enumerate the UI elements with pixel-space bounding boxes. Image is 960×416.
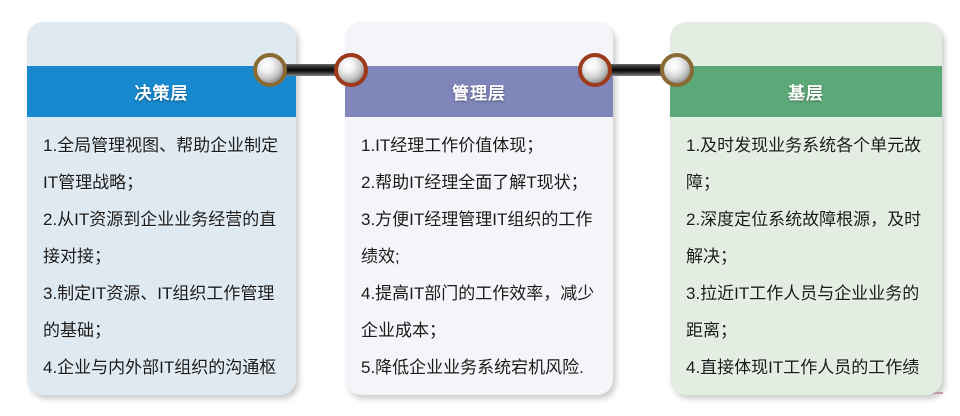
panel-decision-title: 决策层 xyxy=(135,79,189,104)
list-item: 5.降低企业业务系统宕机风险. xyxy=(361,349,599,386)
panel-management-body: 1.IT经理工作价值体现； 2.帮助IT经理全面了解T现状； 3.方便IT经理管… xyxy=(345,117,613,395)
list-item: 1.IT经理工作价值体现； xyxy=(361,127,599,164)
list-item: 4.提高IT部门的工作效率，减少企业成本； xyxy=(361,275,599,349)
panel-decision-body: 1.全局管理视图、帮助企业制定IT管理战略； 2.从IT资源到企业业务经营的直接… xyxy=(27,117,296,395)
panel-management-header: 管理层 xyxy=(345,66,613,117)
list-item: 1.及时发现业务系统各个单元故障； xyxy=(686,127,928,201)
panel-decision-header: 决策层 xyxy=(27,66,296,117)
list-item: 3.方便IT经理管理IT组织的工作绩效; xyxy=(361,201,599,275)
panel-base-body: 1.及时发现业务系统各个单元故障； 2.深度定位系统故障根源，及时解决； 3.拉… xyxy=(670,117,942,395)
panel-base-header: 基层 xyxy=(670,66,942,117)
list-item: 2.从IT资源到企业业务经营的直接对接； xyxy=(43,201,282,275)
list-item: 4.直接体现IT工作人员的工作绩效； xyxy=(686,349,928,395)
list-item: 3.拉近IT工作人员与企业业务的距离； xyxy=(686,275,928,349)
panel-base[interactable]: 基层 1.及时发现业务系统各个单元故障； 2.深度定位系统故障根源，及时解决； … xyxy=(670,22,942,395)
list-item: 3.制定IT资源、IT组织工作管理的基础； xyxy=(43,275,282,349)
list-item: 1.全局管理视图、帮助企业制定IT管理战略； xyxy=(43,127,282,201)
list-item: 2.帮助IT经理全面了解T现状； xyxy=(361,164,599,201)
list-item: 4.企业与内外部IT组织的沟通枢纽。 xyxy=(43,349,282,395)
panel-base-title: 基层 xyxy=(788,79,824,104)
diagram-canvas: 决策层 1.全局管理视图、帮助企业制定IT管理战略； 2.从IT资源到企业业务经… xyxy=(0,0,960,416)
panel-decision[interactable]: 决策层 1.全局管理视图、帮助企业制定IT管理战略； 2.从IT资源到企业业务经… xyxy=(27,22,296,395)
panel-management-title: 管理层 xyxy=(452,79,506,104)
panel-management[interactable]: 管理层 1.IT经理工作价值体现； 2.帮助IT经理全面了解T现状； 3.方便I… xyxy=(345,22,613,395)
list-item: 2.深度定位系统故障根源，及时解决； xyxy=(686,201,928,275)
